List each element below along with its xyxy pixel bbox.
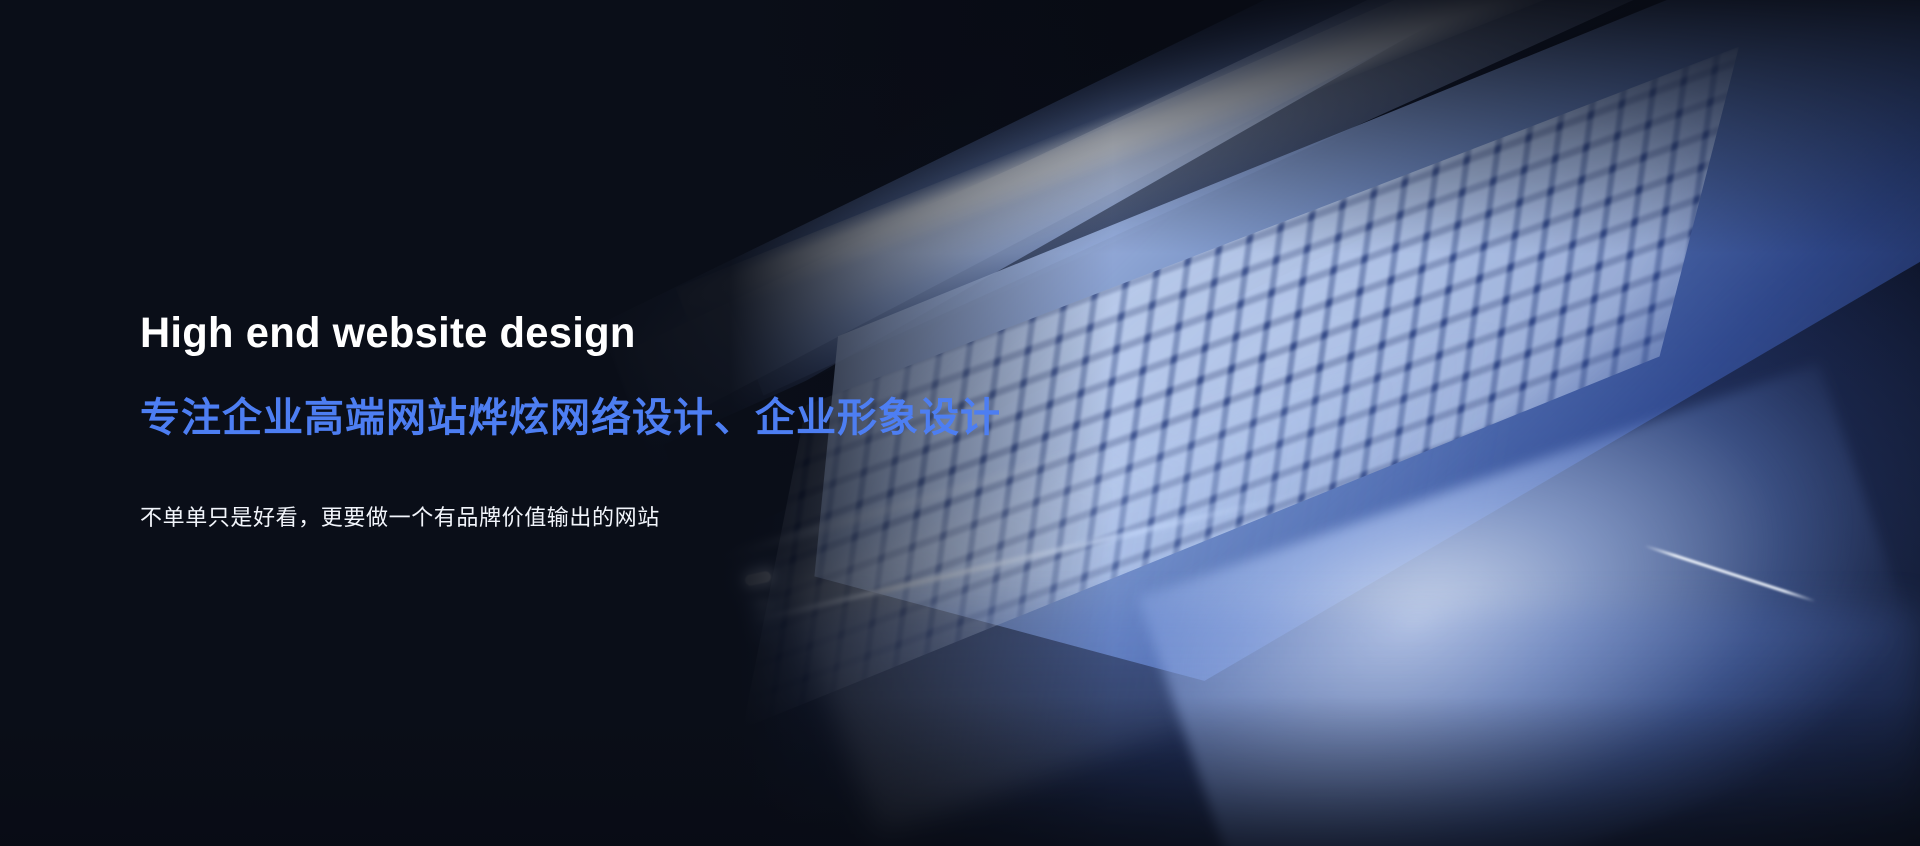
led-reflection: [742, 598, 784, 644]
hero-tagline: 不单单只是好看，更要做一个有品牌价值输出的网站: [140, 504, 1140, 535]
hero-banner: High end website design 专注企业高端网站烨炫网络设计、企…: [0, 0, 1920, 846]
hero-subtitle: 专注企业高端网站烨炫网络设计、企业形象设计: [140, 394, 1140, 442]
hero-headline: High end website design: [140, 311, 1110, 356]
